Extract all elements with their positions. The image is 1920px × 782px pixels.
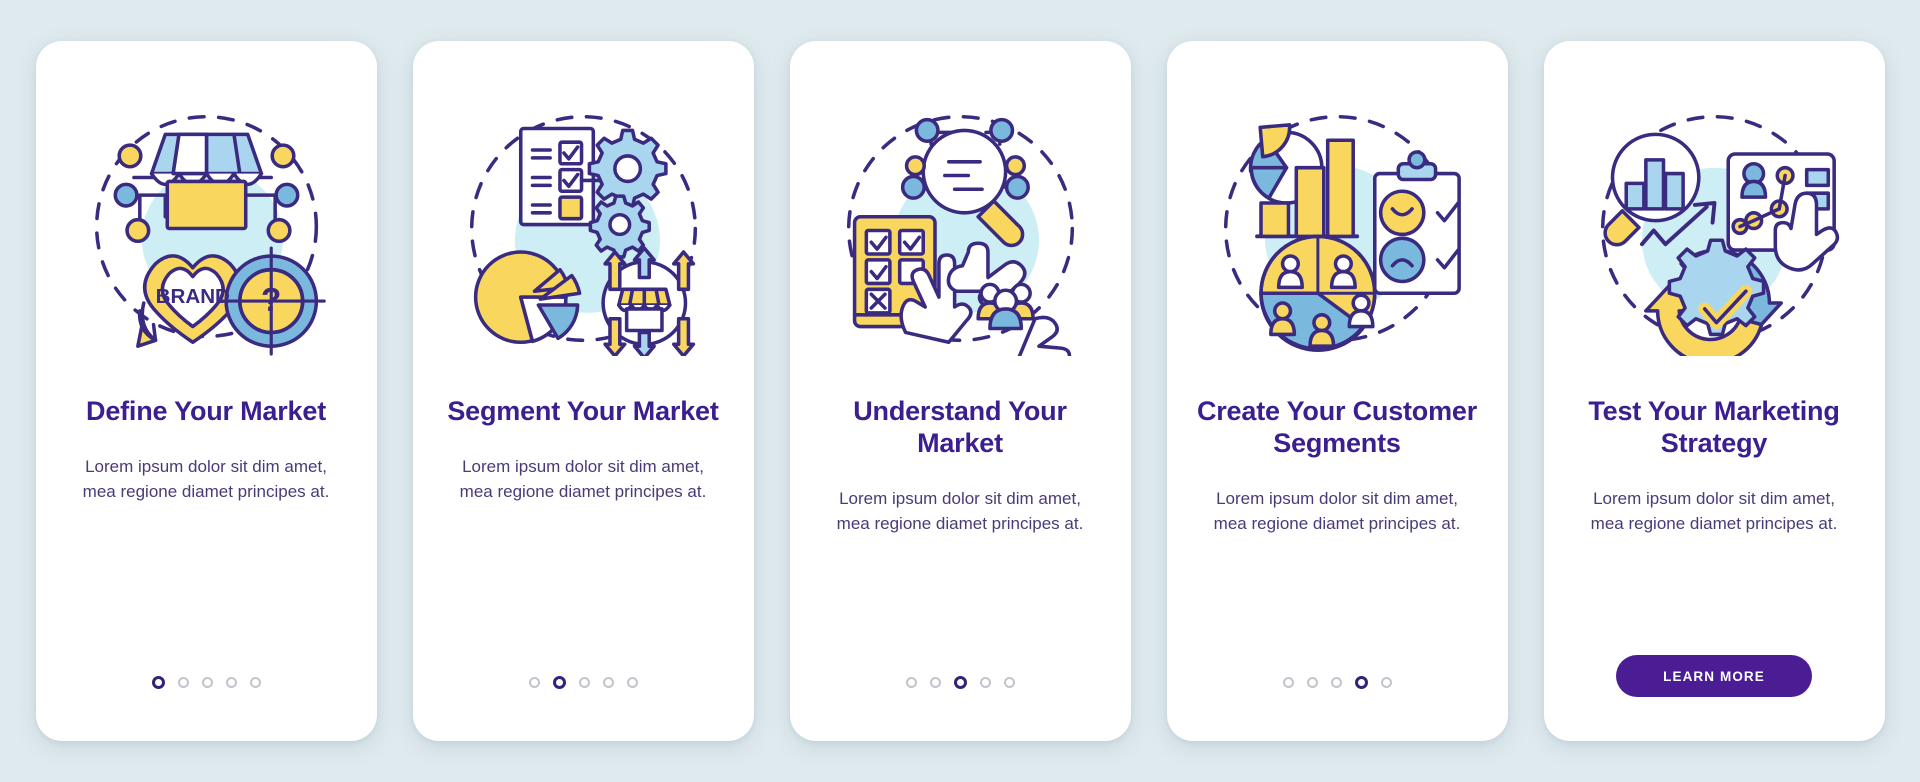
page-title: Segment Your Market: [447, 396, 718, 428]
pagination-dot-5[interactable]: [627, 677, 638, 688]
onboarding-screen-segment-your-market: Segment Your Market Lorem ipsum dolor si…: [413, 41, 754, 741]
segment-your-market-illustration: [456, 101, 711, 356]
page-description: Lorem ipsum dolor sit dim amet, mea regi…: [1589, 486, 1839, 536]
brand-heart-label: BRAND: [155, 285, 229, 308]
pagination-dot-4[interactable]: [980, 677, 991, 688]
page-description: Lorem ipsum dolor sit dim amet, mea regi…: [458, 454, 708, 504]
onboarding-screen-define-your-market: BRAND ? Define Your Market Lorem ipsum d…: [36, 41, 377, 741]
test-marketing-strategy-illustration: [1587, 101, 1842, 356]
pagination-dot-5[interactable]: [1381, 677, 1392, 688]
page-description: Lorem ipsum dolor sit dim amet, mea regi…: [81, 454, 331, 504]
page-description: Lorem ipsum dolor sit dim amet, mea regi…: [835, 486, 1085, 536]
pagination-dot-1[interactable]: [152, 676, 165, 689]
create-customer-segments-illustration: [1210, 101, 1465, 356]
define-your-market-illustration: BRAND ?: [79, 101, 334, 356]
pagination-dot-2[interactable]: [553, 676, 566, 689]
pagination-dot-3[interactable]: [954, 676, 967, 689]
pagination-dot-3[interactable]: [202, 677, 213, 688]
page-title: Test Your Marketing Strategy: [1574, 396, 1855, 460]
pagination-dot-1[interactable]: [906, 677, 917, 688]
page-title: Understand Your Market: [820, 396, 1101, 460]
learn-more-button[interactable]: LEARN MORE: [1616, 655, 1812, 697]
pagination-dot-3[interactable]: [1331, 677, 1342, 688]
page-title: Create Your Customer Segments: [1197, 396, 1478, 460]
onboarding-screen-test-marketing-strategy: Test Your Marketing Strategy Lorem ipsum…: [1544, 41, 1885, 741]
onboarding-screens-row: BRAND ? Define Your Market Lorem ipsum d…: [36, 41, 1885, 741]
pagination-dot-5[interactable]: [250, 677, 261, 688]
onboarding-screen-create-customer-segments: Create Your Customer Segments Lorem ipsu…: [1167, 41, 1508, 741]
onboarding-screen-understand-your-market: Understand Your Market Lorem ipsum dolor…: [790, 41, 1131, 741]
pagination-dots[interactable]: [906, 667, 1015, 697]
pagination-dot-3[interactable]: [579, 677, 590, 688]
question-mark-label: ?: [261, 282, 281, 319]
pagination-dot-2[interactable]: [1307, 677, 1318, 688]
page-description: Lorem ipsum dolor sit dim amet, mea regi…: [1212, 486, 1462, 536]
pagination-dot-4[interactable]: [226, 677, 237, 688]
pagination-dot-4[interactable]: [1355, 676, 1368, 689]
pagination-dot-4[interactable]: [603, 677, 614, 688]
pagination-dot-2[interactable]: [178, 677, 189, 688]
pagination-dots[interactable]: [1283, 667, 1392, 697]
pagination-dot-2[interactable]: [930, 677, 941, 688]
page-title: Define Your Market: [86, 396, 326, 428]
pagination-dot-1[interactable]: [529, 677, 540, 688]
pagination-dots[interactable]: [529, 667, 638, 697]
pagination-dots[interactable]: [152, 667, 261, 697]
pagination-dot-5[interactable]: [1004, 677, 1015, 688]
pagination-dot-1[interactable]: [1283, 677, 1294, 688]
understand-your-market-illustration: [833, 101, 1088, 356]
